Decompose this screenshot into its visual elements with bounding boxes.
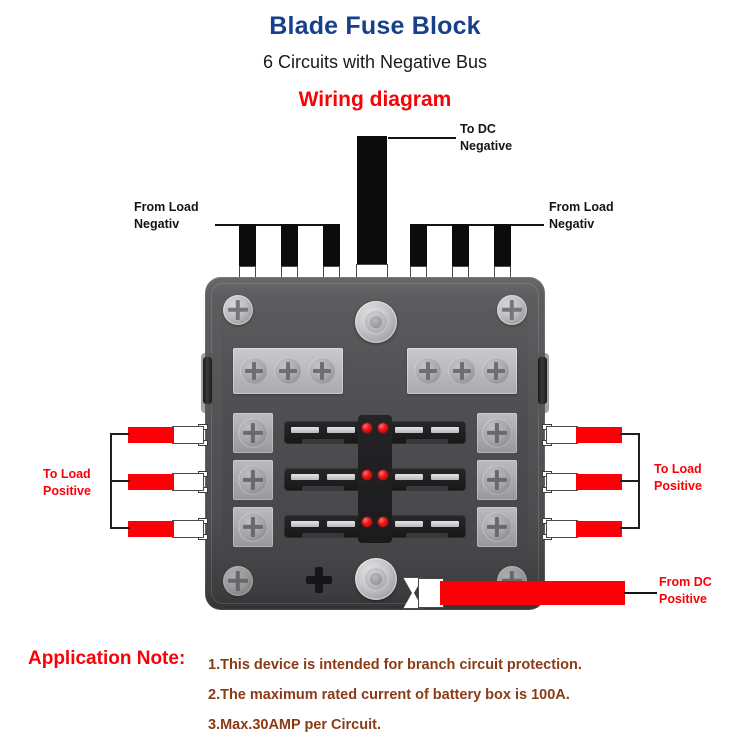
load-positive-wire-right-3 — [576, 521, 622, 537]
application-note-item-1: 1.This device is intended for branch cir… — [208, 650, 748, 680]
fuse-slot-left-2[interactable] — [284, 468, 362, 491]
callout-to-dc-negative-line1: To DC — [460, 121, 512, 138]
fuse-notch-right-2 — [406, 486, 448, 491]
fuse-blade-left-2b — [327, 474, 355, 480]
dc-negative-stud[interactable] — [355, 301, 397, 343]
callout-to-dc-negative: To DC Negative — [460, 121, 512, 155]
load-positive-wire-left-2 — [128, 474, 174, 490]
negative-bus-bar-left — [233, 348, 343, 394]
positive-terminal-left-3[interactable] — [233, 507, 273, 547]
bracket-right-stub-3 — [620, 527, 640, 529]
negative-bus-screw-right-3[interactable] — [482, 357, 510, 385]
callout-to-load-positive-right: To Load Positive — [654, 461, 702, 495]
positive-terminal-screw-right-3[interactable] — [482, 512, 512, 542]
positive-terminal-screw-left-3[interactable] — [238, 512, 268, 542]
load-positive-wire-left-1 — [128, 427, 174, 443]
main-dc-negative-wire — [357, 136, 387, 266]
fuse-notch-left-1 — [302, 439, 344, 444]
bracket-left-stub-3 — [110, 527, 130, 529]
positive-terminal-left-1[interactable] — [233, 413, 273, 453]
fuse-notch-left-3 — [302, 533, 344, 538]
ferrule-pos-left-2 — [172, 473, 204, 491]
led-indicator-3 — [362, 470, 372, 480]
load-negative-wire-left-1 — [239, 224, 256, 268]
fuse-slot-right-2[interactable] — [388, 468, 466, 491]
bracket-right-stub-2 — [620, 480, 640, 482]
negative-bus-screw-right-2[interactable] — [448, 357, 476, 385]
leader-line-from-dc-positive — [624, 592, 657, 594]
positive-terminal-screw-right-2[interactable] — [482, 465, 512, 495]
negative-bus-bar-right — [407, 348, 517, 394]
application-note-label: Application Note: — [28, 648, 185, 670]
fuse-blade-left-3a — [291, 521, 319, 527]
ferrule-pos-left-3 — [172, 520, 204, 538]
load-negative-wire-left-3 — [323, 224, 340, 268]
polarity-plus-mark — [306, 567, 332, 593]
ferrule-pos-right-3 — [546, 520, 578, 538]
load-negative-wire-right-2 — [452, 224, 469, 268]
application-note-item-3: 3.Max.30AMP per Circuit. — [208, 710, 748, 740]
callout-from-load-negativ-right-line2: Negativ — [549, 216, 614, 233]
corner-screw-top-left — [223, 295, 253, 325]
led-indicator-4 — [378, 470, 388, 480]
callout-to-load-positive-right-line2: Positive — [654, 478, 702, 495]
ferrule-pos-right-1 — [546, 426, 578, 444]
corner-screw-top-right — [497, 295, 527, 325]
load-negative-wire-right-1 — [410, 224, 427, 268]
negative-bus-screw-left-3[interactable] — [308, 357, 336, 385]
callout-from-dc-positive-line1: From DC — [659, 574, 712, 591]
callout-from-load-negativ-right-line1: From Load — [549, 199, 614, 216]
fuse-slot-left-1[interactable] — [284, 421, 362, 444]
fuse-blade-left-1a — [291, 427, 319, 433]
fuse-blade-right-3b — [431, 521, 459, 527]
wiring-diagram-page: Blade Fuse Block 6 Circuits with Negativ… — [0, 0, 750, 750]
negative-bus-screw-right-1[interactable] — [414, 357, 442, 385]
load-positive-wire-left-3 — [128, 521, 174, 537]
positive-terminal-right-3[interactable] — [477, 507, 517, 547]
load-negative-wire-left-2 — [281, 224, 298, 268]
leader-line-from-load-negativ-left — [215, 224, 330, 226]
callout-from-load-negativ-right: From Load Negativ — [549, 199, 614, 233]
fuse-blade-right-1b — [431, 427, 459, 433]
callout-to-load-positive-right-line1: To Load — [654, 461, 702, 478]
negative-bus-screw-left-1[interactable] — [240, 357, 268, 385]
fuse-blade-right-1a — [395, 427, 423, 433]
positive-terminal-right-1[interactable] — [477, 413, 517, 453]
leader-line-from-load-negativ-right — [424, 224, 544, 226]
positive-terminal-right-2[interactable] — [477, 460, 517, 500]
negative-bus-screw-left-2[interactable] — [274, 357, 302, 385]
led-indicator-column — [358, 415, 392, 543]
led-indicator-2 — [378, 423, 388, 433]
callout-to-dc-negative-line2: Negative — [460, 138, 512, 155]
ferrule-pos-right-2 — [546, 473, 578, 491]
section-title-wiring-diagram: Wiring diagram — [0, 88, 750, 112]
callout-to-load-positive-left: To Load Positive — [43, 466, 91, 500]
page-title: Blade Fuse Block — [0, 12, 750, 41]
positive-terminal-left-2[interactable] — [233, 460, 273, 500]
load-positive-wire-right-2 — [576, 474, 622, 490]
bracket-left-stub-2 — [110, 480, 130, 482]
fuse-notch-right-1 — [406, 439, 448, 444]
led-indicator-5 — [362, 517, 372, 527]
positive-terminal-screw-left-2[interactable] — [238, 465, 268, 495]
bracket-right-stub-1 — [620, 433, 640, 435]
fuse-blade-right-2b — [431, 474, 459, 480]
side-clip-left — [203, 357, 212, 404]
fuse-slot-right-1[interactable] — [388, 421, 466, 444]
application-note-list: 1.This device is intended for branch cir… — [208, 650, 748, 740]
fuse-blade-left-3b — [327, 521, 355, 527]
dc-positive-stud-inner — [370, 573, 382, 585]
bracket-left-stub-1 — [110, 433, 130, 435]
positive-terminal-screw-left-1[interactable] — [238, 418, 268, 448]
fuse-slot-left-3[interactable] — [284, 515, 362, 538]
dc-positive-stud[interactable] — [355, 558, 397, 600]
fuse-slot-right-3[interactable] — [388, 515, 466, 538]
dc-negative-stud-inner — [370, 316, 382, 328]
callout-from-dc-positive-line2: Positive — [659, 591, 712, 608]
fuse-notch-left-2 — [302, 486, 344, 491]
load-positive-wire-right-1 — [576, 427, 622, 443]
fuse-blade-right-2a — [395, 474, 423, 480]
fuse-notch-right-3 — [406, 533, 448, 538]
ferrule-pos-left-1 — [172, 426, 204, 444]
page-subtitle: 6 Circuits with Negative Bus — [0, 52, 750, 73]
corner-screw-bottom-left — [223, 566, 253, 596]
application-note-item-2: 2.The maximum rated current of battery b… — [208, 680, 748, 710]
callout-from-load-negativ-left-line2: Negativ — [134, 216, 199, 233]
led-indicator-1 — [362, 423, 372, 433]
callout-to-load-positive-left-line1: To Load — [43, 466, 91, 483]
positive-terminal-screw-right-1[interactable] — [482, 418, 512, 448]
callout-from-load-negativ-left: From Load Negativ — [134, 199, 199, 233]
side-clip-right — [538, 357, 547, 404]
fuse-blade-left-2a — [291, 474, 319, 480]
main-dc-positive-wire — [440, 581, 625, 605]
led-indicator-6 — [378, 517, 388, 527]
callout-from-dc-positive: From DC Positive — [659, 574, 712, 608]
load-negative-wire-right-3 — [494, 224, 511, 268]
callout-from-load-negativ-left-line1: From Load — [134, 199, 199, 216]
callout-to-load-positive-left-line2: Positive — [43, 483, 91, 500]
fuse-block-housing — [205, 277, 545, 610]
fuse-blade-right-3a — [395, 521, 423, 527]
leader-line-to-dc-negative — [388, 137, 456, 139]
fuse-blade-left-1b — [327, 427, 355, 433]
